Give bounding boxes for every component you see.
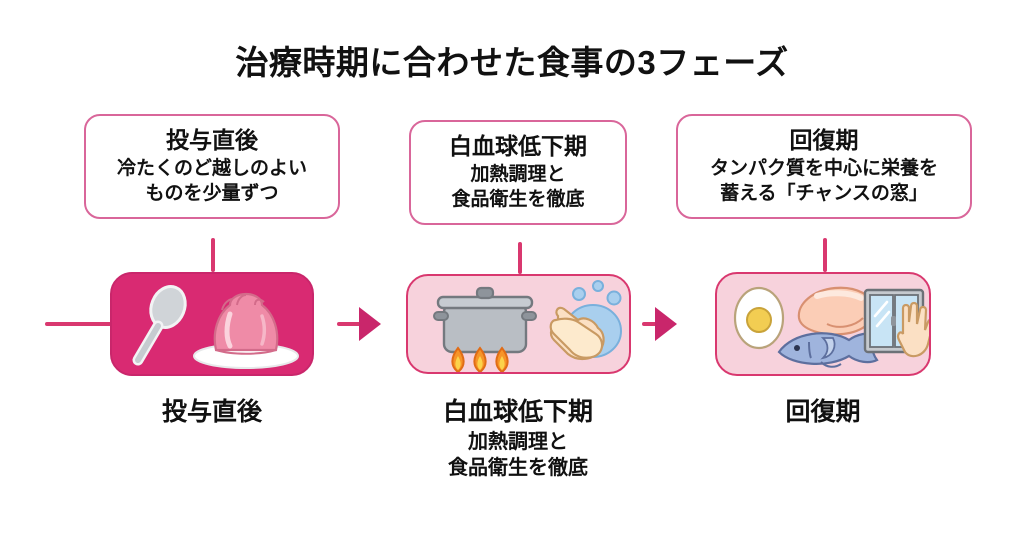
callout-card-phase-3[interactable]: 回復期 タンパク質を中心に栄養を 蓄える「チャンスの窓」 — [676, 114, 972, 219]
jelly-pudding-icon — [194, 294, 298, 368]
connector-phase-3 — [823, 238, 827, 272]
fish-icon — [779, 333, 877, 367]
callout-card-phase-2[interactable]: 白血球低下期 加熱調理と 食品衛生を徹底 — [409, 120, 627, 225]
page-title: 治療時期に合わせた食事の3フェーズ — [0, 36, 1024, 84]
callout-line1-phase-1: 冷たくのど越しのよい — [96, 157, 328, 181]
caption-line2-phase-2: 食品衛生を徹底 — [398, 455, 638, 481]
caption-heading-phase-3: 回復期 — [703, 396, 943, 429]
window-hand-icon — [865, 290, 931, 356]
caption-heading-phase-1: 投与直後 — [92, 396, 332, 429]
callout-heading-phase-3: 回復期 — [688, 126, 960, 155]
phase-2-illustration — [408, 276, 631, 374]
callout-line1-phase-2: 加熱調理と — [421, 163, 615, 187]
callout-line2-phase-1: ものを少量ずつ — [96, 182, 328, 206]
phase-box-2[interactable] — [406, 274, 631, 374]
caption-line1-phase-2: 加熱調理と — [398, 429, 638, 455]
callout-line2-phase-3: 蓄える「チャンスの窓」 — [688, 182, 960, 206]
connector-phase-2 — [518, 242, 522, 274]
callout-line2-phase-2: 食品衛生を徹底 — [421, 188, 615, 212]
connector-phase-1 — [211, 238, 215, 272]
caption-phase-3: 回復期 — [703, 396, 943, 429]
boiled-egg-icon — [735, 288, 783, 348]
flow-baseline-left — [45, 322, 115, 326]
phase-1-illustration — [112, 274, 314, 376]
spoon-icon — [138, 281, 191, 360]
caption-phase-1: 投与直後 — [92, 396, 332, 429]
arrow-2-to-3 — [655, 307, 677, 341]
cooking-pot-icon — [434, 288, 536, 352]
callout-heading-phase-2: 白血球低下期 — [421, 132, 615, 161]
phase-box-3[interactable] — [715, 272, 931, 376]
phase-3-illustration — [717, 274, 931, 376]
flame-icon — [452, 348, 507, 372]
callout-line1-phase-3: タンパク質を中心に栄養を — [688, 157, 960, 181]
callout-heading-phase-1: 投与直後 — [96, 126, 328, 155]
handwashing-icon — [551, 281, 621, 359]
callout-card-phase-1[interactable]: 投与直後 冷たくのど越しのよい ものを少量ずつ — [84, 114, 340, 219]
phase-box-1[interactable] — [110, 272, 314, 376]
caption-heading-phase-2: 白血球低下期 — [398, 396, 638, 429]
arrow-1-to-2 — [359, 307, 381, 341]
chicken-meat-icon — [799, 288, 875, 335]
infographic-canvas: 治療時期に合わせた食事の3フェーズ 投与直後 冷たくのど越しのよい ものを少量ず… — [0, 0, 1024, 559]
caption-phase-2: 白血球低下期 加熱調理と 食品衛生を徹底 — [398, 396, 638, 481]
